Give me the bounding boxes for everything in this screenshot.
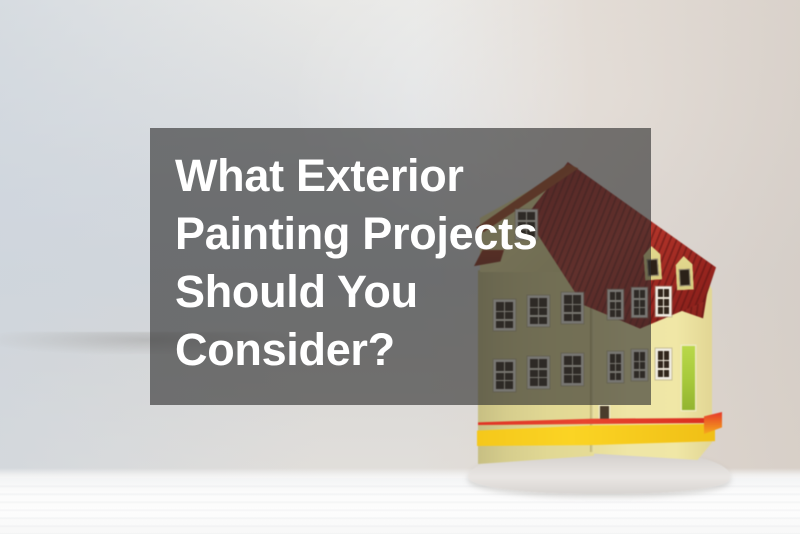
title-line-3: Should You: [175, 263, 635, 321]
header-image: What Exterior Painting Projects Should Y…: [0, 0, 800, 534]
window-mullion: [658, 368, 669, 370]
dormer-pane: [679, 269, 691, 287]
title-line-4: Consider?: [175, 321, 635, 379]
title-line-1: What Exterior: [175, 147, 635, 205]
green-door: [682, 346, 695, 410]
side-window: [658, 289, 669, 314]
page-title: What Exterior Painting Projects Should Y…: [175, 147, 635, 379]
title-line-2: Painting Projects: [175, 205, 635, 263]
window-mullion: [658, 306, 669, 308]
title-overlay-panel: What Exterior Painting Projects Should Y…: [150, 128, 651, 405]
side-window: [658, 351, 669, 377]
